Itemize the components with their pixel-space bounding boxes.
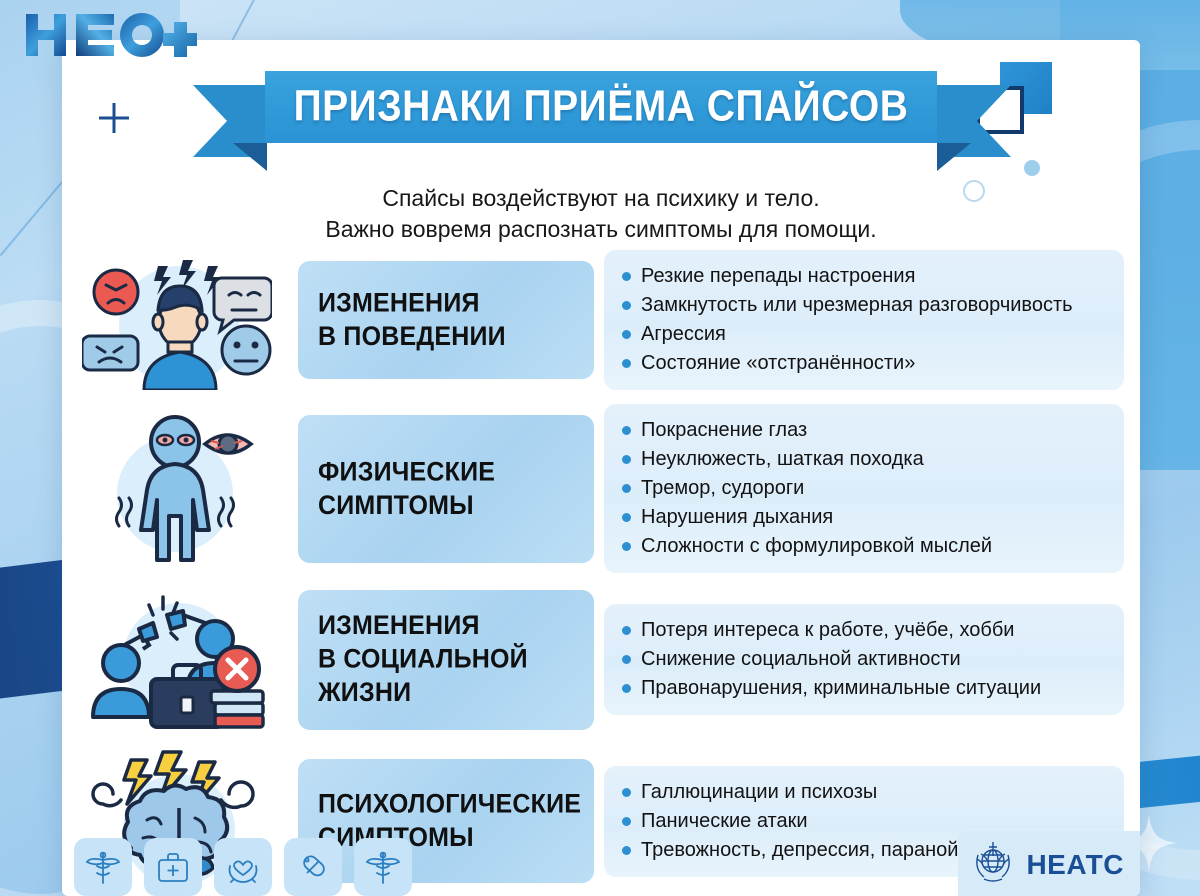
list-item: Галлюцинации и психозы [622, 778, 1104, 807]
list-item: Покраснение глаз [622, 416, 1104, 445]
first-aid-kit-icon [144, 838, 202, 896]
list-item: Замкнутость или чрезмерная разговорчивос… [622, 291, 1104, 320]
page-title: ПРИЗНАКИ ПРИЁМА СПАЙСОВ [294, 82, 909, 131]
list-item: Нарушения дыхания [622, 503, 1104, 532]
section-label: ИЗМЕНЕНИЯ В СОЦИАЛЬНОЙ ЖИЗНИ [318, 609, 528, 709]
infographic-card: ПРИЗНАКИ ПРИЁМА СПАЙСОВ Спайсы воздейств… [62, 40, 1140, 896]
section-row: ФИЗИЧЕСКИЕ СИМПТОМЫ Покраснение глаз Неу… [62, 404, 1140, 573]
bullet-text: Состояние «отстранённости» [641, 349, 915, 378]
mood-swings-icon [66, 250, 288, 390]
ribbon-tail-left [193, 71, 267, 176]
bullet-text: Покраснение глаз [641, 416, 807, 445]
list-item: Состояние «отстранённости» [622, 349, 1104, 378]
list-item: Снижение социальной активности [622, 645, 1104, 674]
broken-social-link-icon [66, 587, 288, 732]
bullet-text: Неуклюжесть, шаткая походка [641, 445, 924, 474]
footer-icon-row [74, 838, 412, 896]
section-label-box: ИЗМЕНЕНИЯ В СОЦИАЛЬНОЙ ЖИЗНИ [298, 590, 594, 730]
who-globe-laurel-emblem [970, 839, 1016, 890]
bullet-text: Снижение социальной активности [641, 645, 961, 674]
neo-plus-logo [22, 8, 197, 63]
footer: НЕАТС [62, 828, 1140, 896]
bullet-dot-icon [622, 684, 631, 693]
list-item: Агрессия [622, 320, 1104, 349]
list-item: Потеря интереса к работе, учёбе, хобби [622, 616, 1104, 645]
bullet-dot-icon [622, 626, 631, 635]
bullet-dot-icon [622, 788, 631, 797]
bullet-dot-icon [622, 359, 631, 368]
sections-list: ИЗМЕНЕНИЯ В ПОВЕДЕНИИ Резкие перепады на… [62, 250, 1140, 896]
organization-logo: НЕАТС [958, 831, 1140, 896]
ribbon-tail-right [937, 71, 1011, 176]
organization-name: НЕАТС [1026, 849, 1124, 881]
bullet-dot-icon [622, 817, 631, 826]
crosshair-icon [96, 100, 132, 136]
bullet-text: Замкнутость или чрезмерная разговорчивос… [641, 291, 1073, 320]
bullet-dot-icon [622, 272, 631, 281]
subtitle: Спайсы воздействуют на психику и тело. В… [62, 183, 1140, 245]
bullet-dot-icon [622, 542, 631, 551]
section-label-box: ФИЗИЧЕСКИЕ СИМПТОМЫ [298, 415, 594, 563]
section-row: ИЗМЕНЕНИЯ В ПОВЕДЕНИИ Резкие перепады на… [62, 250, 1140, 390]
section-label-box: ИЗМЕНЕНИЯ В ПОВЕДЕНИИ [298, 261, 594, 379]
caduceus-icon [354, 838, 412, 896]
subtitle-line-1: Спайсы воздействуют на психику и тело. [62, 183, 1140, 214]
bullet-text: Резкие перепады настроения [641, 262, 915, 291]
ribbon-body: ПРИЗНАКИ ПРИЁМА СПАЙСОВ [265, 71, 937, 143]
trembling-body-red-eye-icon [66, 404, 288, 573]
section-label: ИЗМЕНЕНИЯ В ПОВЕДЕНИИ [318, 287, 506, 354]
bullet-dot-icon [622, 426, 631, 435]
section-bullets: Потеря интереса к работе, учёбе, хобби С… [604, 604, 1124, 715]
subtitle-line-2: Важно вовремя распознать симптомы для по… [62, 214, 1140, 245]
caduceus-icon [74, 838, 132, 896]
bullet-text: Правонарушения, криминальные ситуации [641, 674, 1041, 703]
capsule-pill-icon [284, 838, 342, 896]
list-item: Сложности с формулировкой мыслей [622, 532, 1104, 561]
list-item: Тремор, судороги [622, 474, 1104, 503]
section-label: ФИЗИЧЕСКИЕ СИМПТОМЫ [318, 455, 495, 522]
section-row: ИЗМЕНЕНИЯ В СОЦИАЛЬНОЙ ЖИЗНИ Потеря инте… [62, 587, 1140, 732]
bullet-dot-icon [622, 455, 631, 464]
section-bullets: Покраснение глаз Неуклюжесть, шаткая пох… [604, 404, 1124, 573]
bullet-dot-icon [622, 301, 631, 310]
list-item: Правонарушения, криминальные ситуации [622, 674, 1104, 703]
bullet-dot-icon [622, 484, 631, 493]
title-ribbon: ПРИЗНАКИ ПРИЁМА СПАЙСОВ [62, 65, 1140, 165]
bullet-text: Нарушения дыхания [641, 503, 833, 532]
list-item: Неуклюжесть, шаткая походка [622, 445, 1104, 474]
bullet-text: Потеря интереса к работе, учёбе, хобби [641, 616, 1014, 645]
bullet-dot-icon [622, 330, 631, 339]
bullet-text: Галлюцинации и психозы [641, 778, 877, 807]
bullet-dot-icon [622, 513, 631, 522]
bullet-dot-icon [622, 655, 631, 664]
section-bullets: Резкие перепады настроения Замкнутость и… [604, 250, 1124, 390]
bullet-text: Агрессия [641, 320, 726, 349]
bullet-text: Сложности с формулировкой мыслей [641, 532, 992, 561]
bullet-text: Тремор, судороги [641, 474, 804, 503]
list-item: Резкие перепады настроения [622, 262, 1104, 291]
heart-in-hands-icon [214, 838, 272, 896]
